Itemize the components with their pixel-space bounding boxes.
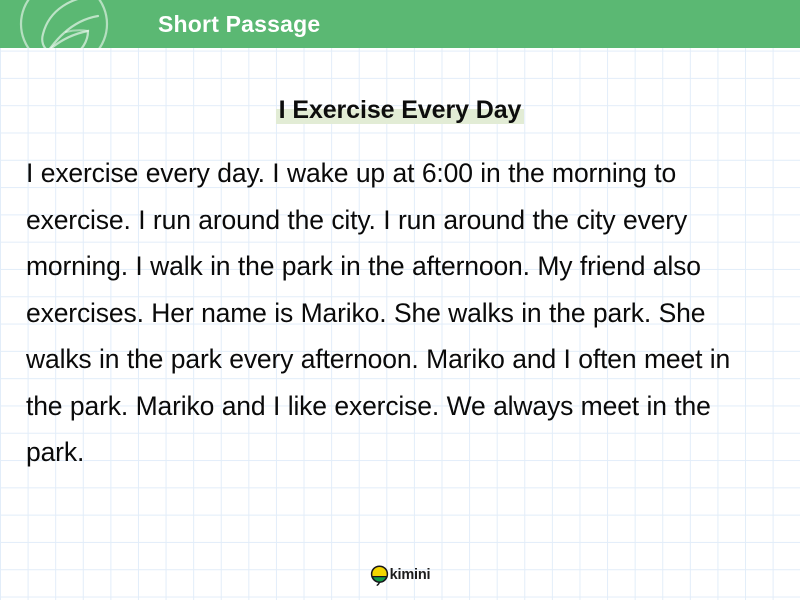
header-bar: Short Passage bbox=[0, 0, 800, 48]
passage-body-text: I exercise every day. I wake up at 6:00 … bbox=[26, 150, 774, 476]
passage-title-text: I Exercise Every Day bbox=[279, 96, 522, 124]
kimini-leaf-outline-icon bbox=[2, 0, 132, 48]
header-title: Short Passage bbox=[158, 0, 320, 48]
passage-title: I Exercise Every Day bbox=[276, 96, 525, 125]
passage-title-container: I Exercise Every Day bbox=[0, 96, 800, 125]
footer-wordmark: kimini bbox=[390, 568, 431, 583]
slide-canvas: Short Passage I Exercise Every Day I exe… bbox=[0, 0, 800, 600]
footer-brand: kimini bbox=[0, 563, 800, 587]
kimini-balloon-icon bbox=[370, 565, 389, 586]
